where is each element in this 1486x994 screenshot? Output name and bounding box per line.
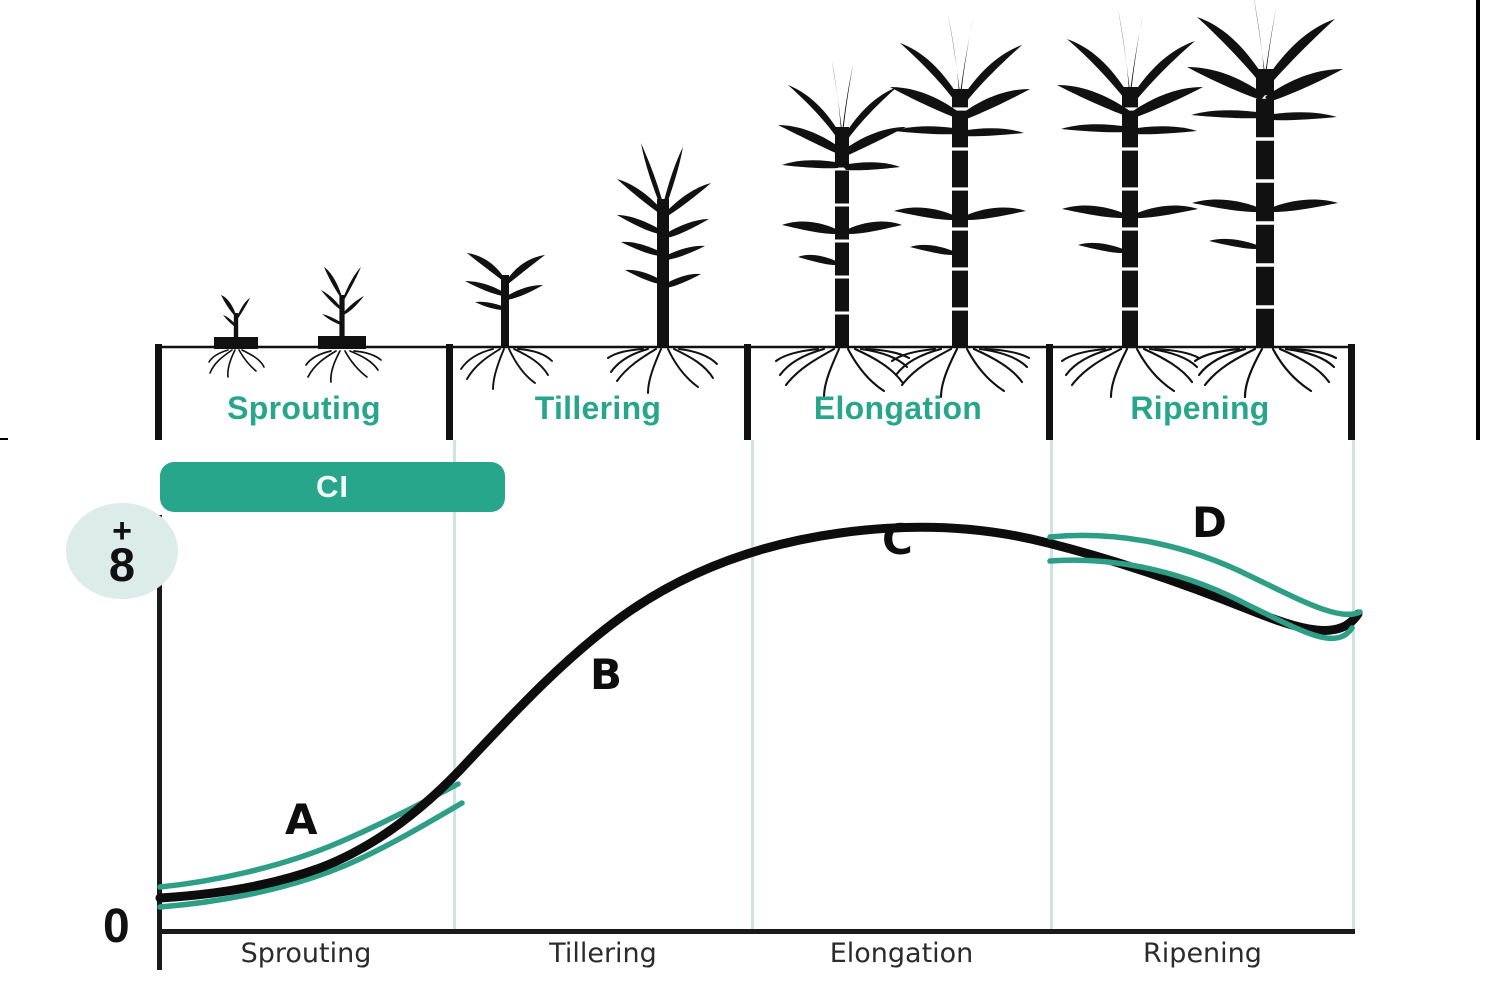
stage-label-tillering: Tillering bbox=[452, 390, 744, 427]
curve-annotation-d: D bbox=[1192, 498, 1227, 547]
seedling-icon bbox=[209, 267, 381, 382]
curve-annotation-c: C bbox=[882, 515, 913, 564]
cane-stalk-icon bbox=[776, 15, 1030, 397]
growth-stage-panel: Sprouting Tillering Elongation Ripening bbox=[0, 0, 1478, 440]
curve-annotation-a: A bbox=[285, 795, 318, 844]
stage-label-elongation: Elongation bbox=[750, 390, 1046, 427]
ci-curve bbox=[0, 440, 1486, 994]
growth-index-chart: CI +8 0 A B C D Sprouting Tillering Elon… bbox=[0, 440, 1486, 994]
stage-label-sprouting: Sprouting bbox=[158, 390, 450, 427]
plant-illustrations bbox=[0, 0, 1478, 440]
panel-edge-rule-right bbox=[1476, 0, 1480, 440]
x-tick-sprouting: Sprouting bbox=[160, 938, 452, 969]
curve-annotation-b: B bbox=[590, 650, 622, 699]
mature-cane-icon bbox=[1057, 0, 1343, 397]
tiller-plant-icon bbox=[461, 143, 717, 393]
x-tick-elongation: Elongation bbox=[753, 938, 1050, 969]
x-tick-tillering: Tillering bbox=[455, 938, 751, 969]
x-tick-ripening: Ripening bbox=[1053, 938, 1352, 969]
stage-label-ripening: Ripening bbox=[1052, 390, 1348, 427]
figure-root: Sprouting Tillering Elongation Ripening … bbox=[0, 0, 1486, 994]
